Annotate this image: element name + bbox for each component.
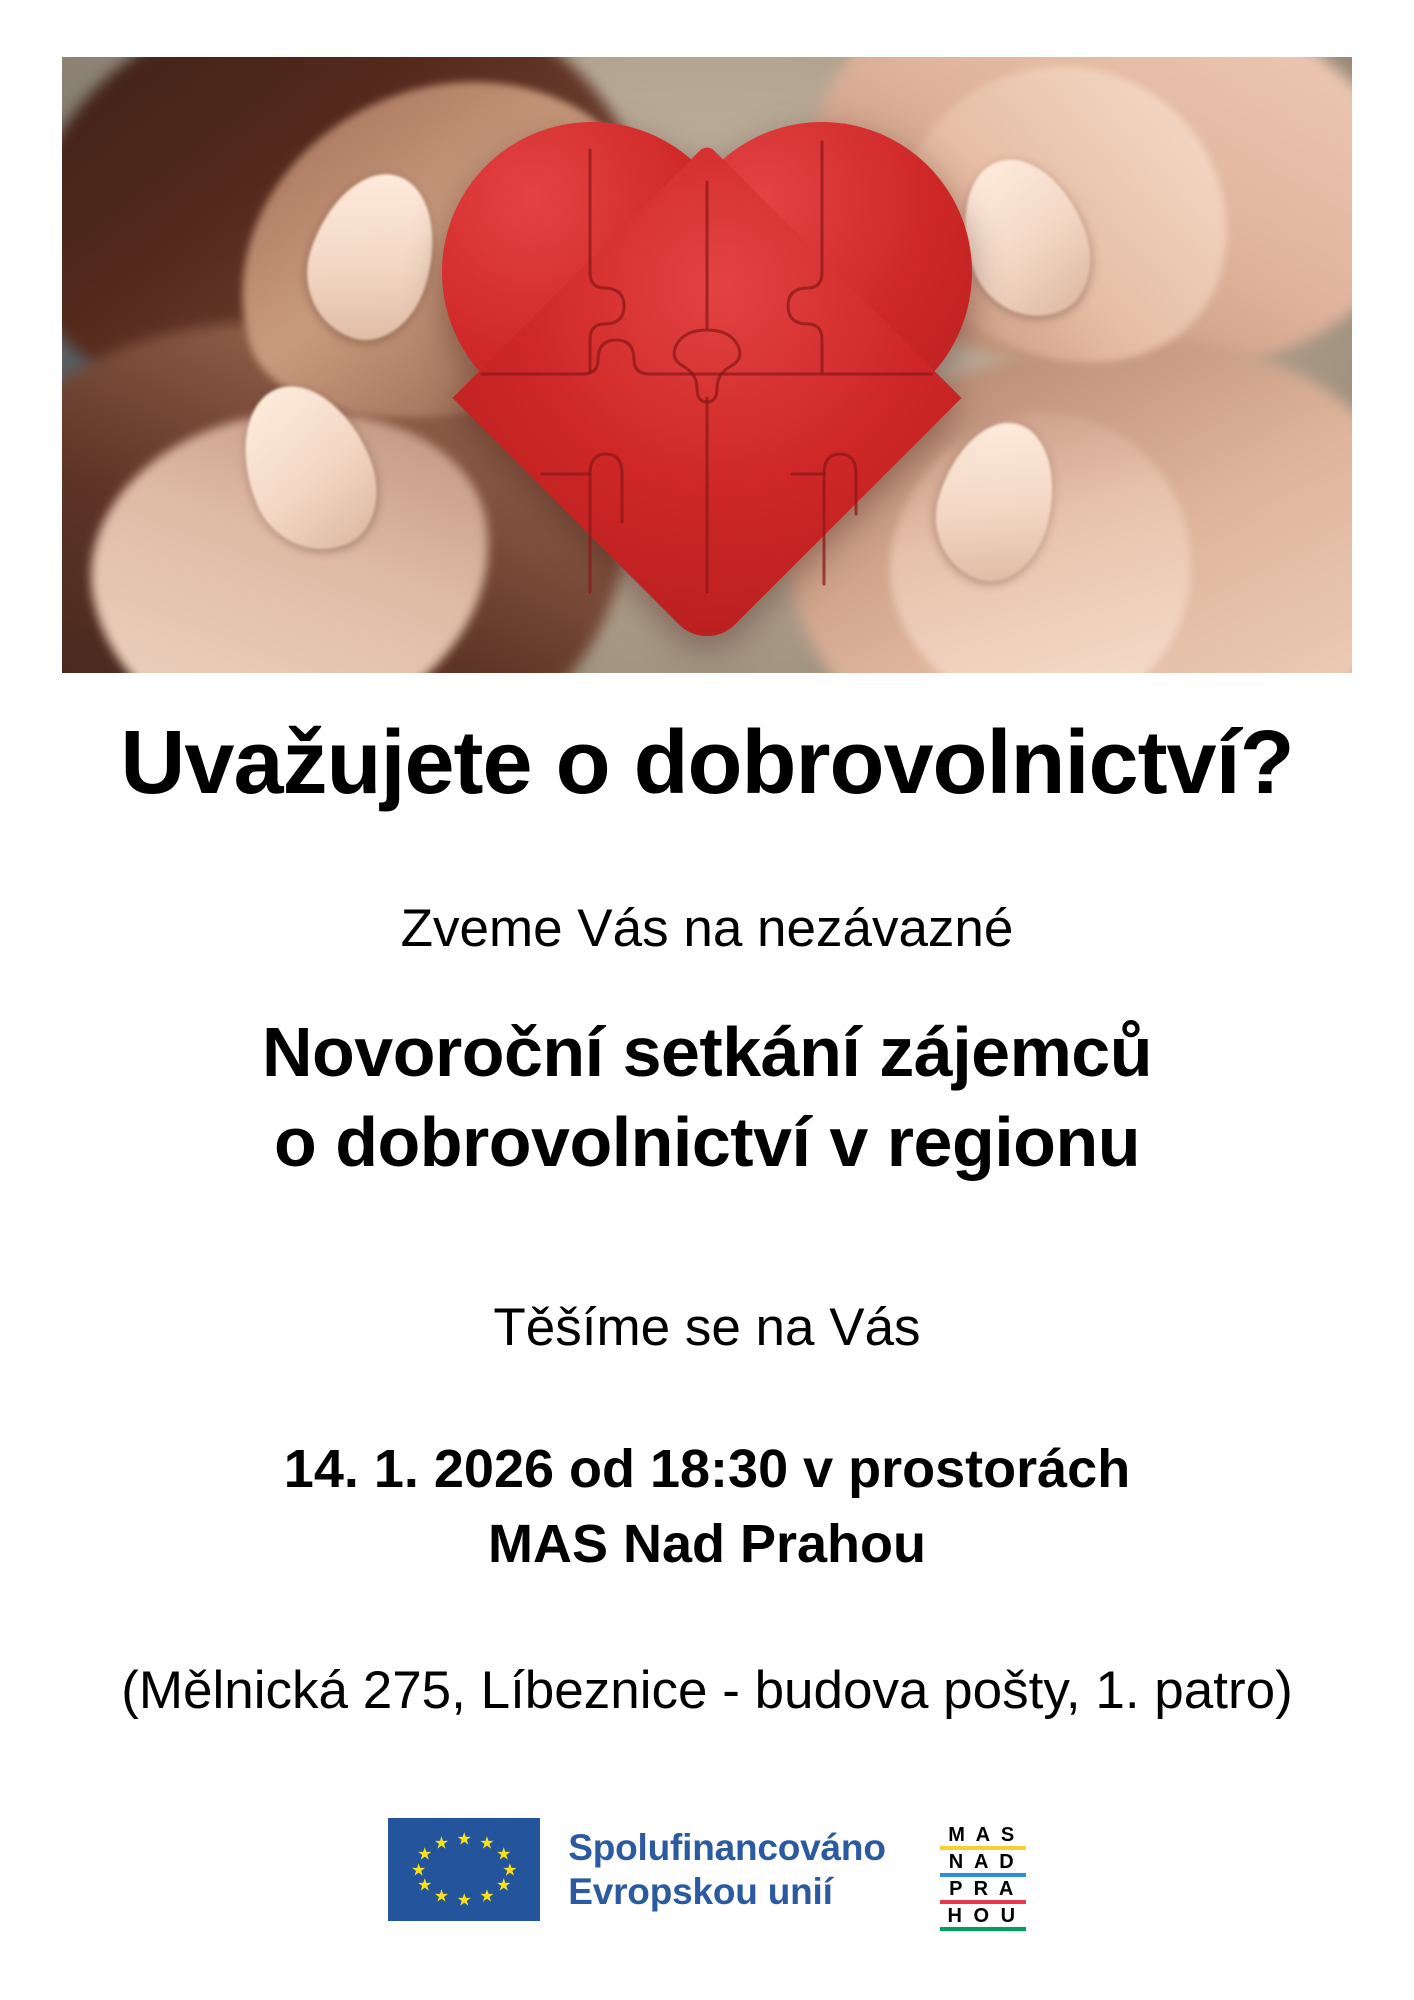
eu-funding-text-line-2: Evropskou unií [568, 1870, 885, 1913]
eu-star-icon: ★ [479, 1834, 494, 1851]
eu-star-icon: ★ [434, 1834, 449, 1851]
poster-canvas: Uvažujete o dobrovolnictví? Zveme Vás na… [0, 0, 1414, 2000]
event-venue-line: MAS Nad Prahou [0, 1507, 1414, 1582]
mas-logo-row-2: P R A [940, 1877, 1026, 1900]
event-title-line-1: Novoroční setkání zájemců [0, 1008, 1414, 1098]
eu-funding-logo: ★★★★★★★★★★★★ Spolufinancováno Evropskou … [388, 1818, 885, 1921]
closing-line: Těšíme se na Vás [0, 1297, 1414, 1358]
funding-logos: ★★★★★★★★★★★★ Spolufinancováno Evropskou … [0, 1818, 1414, 1978]
page-title: Uvažujete o dobrovolnictví? [0, 718, 1414, 808]
event-datetime-line: 14. 1. 2026 od 18:30 v prostorách [0, 1432, 1414, 1507]
eu-funding-text: Spolufinancováno Evropskou unií [568, 1826, 885, 1913]
eu-star-icon: ★ [496, 1876, 511, 1893]
eu-star-icon: ★ [411, 1861, 426, 1878]
event-title-line-2: o dobrovolnictví v regionu [0, 1098, 1414, 1188]
mas-logo-row-3: H O U [940, 1904, 1026, 1927]
eu-star-icon: ★ [434, 1888, 449, 1905]
event-address: (Mělnická 275, Líbeznice - budova pošty,… [0, 1660, 1414, 1721]
eu-funding-text-line-1: Spolufinancováno [568, 1826, 885, 1869]
eu-star-icon: ★ [479, 1888, 494, 1905]
puzzle-heart-icon [442, 122, 972, 632]
eu-star-icon: ★ [457, 1892, 472, 1909]
hero-photo [62, 57, 1352, 673]
eu-flag-icon: ★★★★★★★★★★★★ [388, 1818, 540, 1921]
invite-line: Zveme Vás na nezávazné [0, 900, 1414, 958]
event-datetime: 14. 1. 2026 od 18:30 v prostorách MAS Na… [0, 1432, 1414, 1581]
heart-shape [442, 122, 972, 632]
mas-logo-rule-3 [940, 1927, 1026, 1931]
mas-logo-row-0: M A S [940, 1823, 1026, 1846]
eu-star-icon: ★ [417, 1846, 432, 1863]
mas-nad-prahou-logo: M A SN A DP R AH O U [940, 1823, 1026, 1931]
mas-logo-row-1: N A D [940, 1850, 1026, 1873]
eu-star-icon: ★ [457, 1830, 472, 1847]
event-title: Novoroční setkání zájemců o dobrovolnict… [0, 1008, 1414, 1187]
